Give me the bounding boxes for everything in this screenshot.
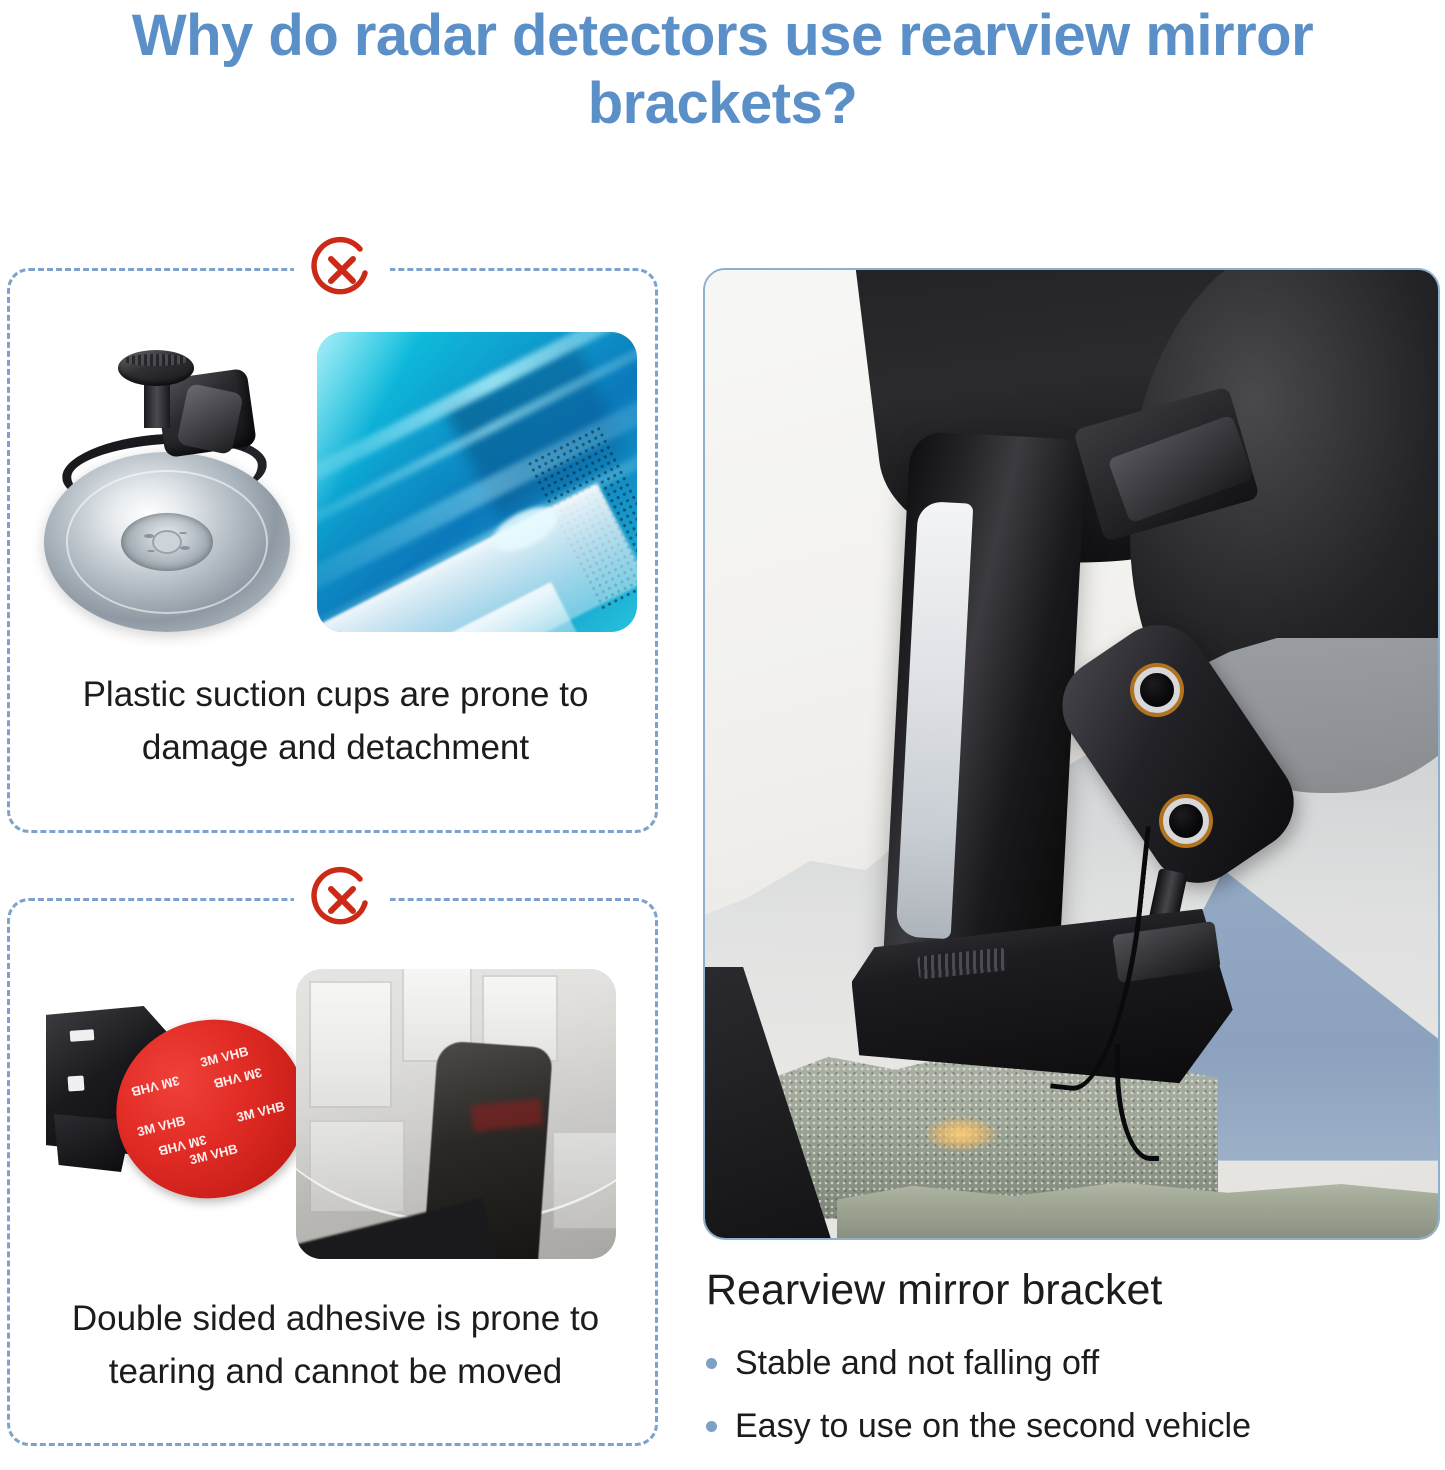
windshield-interior-photo — [296, 969, 616, 1259]
con-card-adhesive: 3M VHB 3M VHB 3M VHB 3M VHB 3M VHB 3M VH… — [7, 898, 658, 1446]
circle-x-icon — [305, 233, 379, 307]
card-1-images — [32, 317, 639, 647]
bullet-dot-icon — [706, 1358, 717, 1369]
page-title: Why do radar detectors use rearview mirr… — [0, 2, 1445, 139]
hero-benefits-list: Stable and not falling off Easy to use o… — [706, 1344, 1436, 1470]
con-card-suction-cup: Plastic suction cups are prone to damage… — [7, 268, 658, 833]
rearview-mirror-bracket-photo — [703, 268, 1440, 1240]
circle-x-icon — [305, 863, 379, 937]
hero-title: Rearview mirror bracket — [706, 1266, 1162, 1315]
bullet-dot-icon — [706, 1421, 717, 1432]
list-item: Easy to use on the second vehicle — [706, 1407, 1436, 1446]
list-item: Stable and not falling off — [706, 1344, 1436, 1383]
bullet-label: Stable and not falling off — [735, 1344, 1099, 1383]
suction-cup-photo — [32, 322, 317, 642]
adhesive-bracket-photo: 3M VHB 3M VHB 3M VHB 3M VHB 3M VHB 3M VH… — [24, 964, 296, 1264]
con-caption-1: Plastic suction cups are prone to damage… — [28, 669, 643, 774]
card-2-images: 3M VHB 3M VHB 3M VHB 3M VHB 3M VHB 3M VH… — [24, 949, 644, 1279]
con-caption-2: Double sided adhesive is prone to tearin… — [28, 1293, 643, 1398]
bullet-label: Easy to use on the second vehicle — [735, 1407, 1251, 1446]
blue-tech-abstract-photo — [317, 332, 637, 632]
